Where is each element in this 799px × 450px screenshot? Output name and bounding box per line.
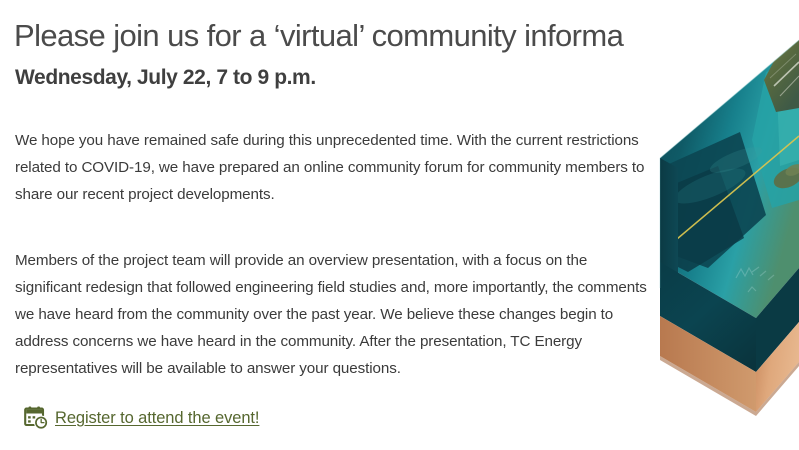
waterway-cross-section-image: [648, 0, 799, 450]
register-row[interactable]: Register to attend the event!: [24, 406, 259, 431]
body-paragraph-2: Members of the project team will provide…: [15, 247, 649, 382]
event-datetime: Wednesday, July 22, 7 to 9 p.m.: [15, 64, 316, 92]
body-paragraph-1: We hope you have remained safe during th…: [15, 127, 649, 208]
register-link[interactable]: Register to attend the event!: [55, 409, 259, 428]
calendar-clock-icon: [24, 406, 49, 431]
text-column: Please join us for a ‘virtual’ community…: [14, 0, 664, 450]
page-root: Please join us for a ‘virtual’ community…: [0, 0, 799, 450]
